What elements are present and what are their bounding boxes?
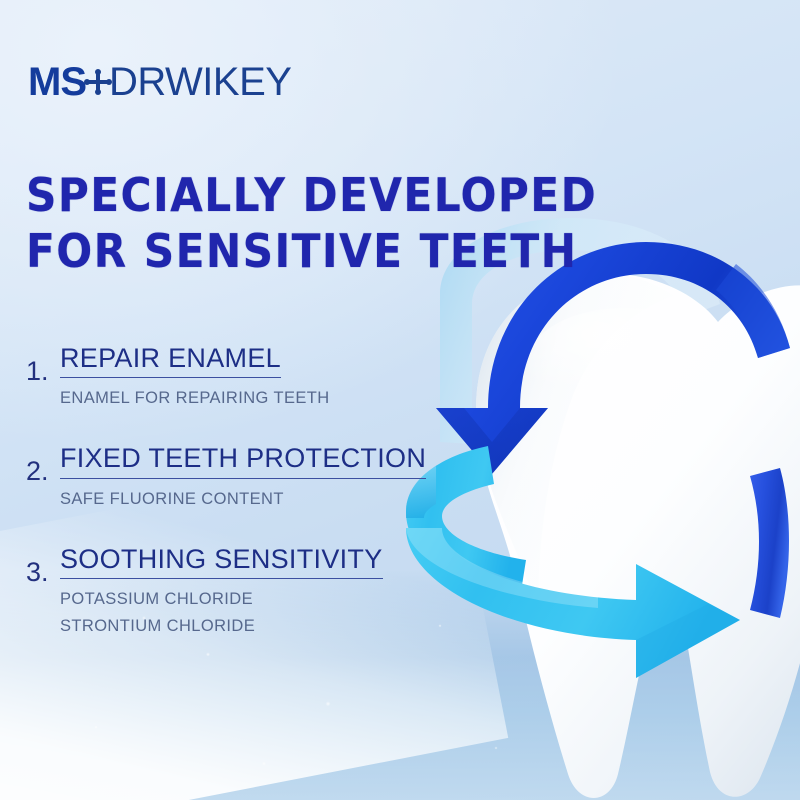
headline: SPECIALLY DEVELOPED FOR SENSITIVE TEETH xyxy=(26,167,523,279)
brand-name-bold: MS xyxy=(28,62,86,102)
feature-number: 1. xyxy=(26,358,49,385)
feature-number: 3. xyxy=(26,559,49,586)
feature-title: REPAIR ENAMEL xyxy=(60,344,281,378)
feature-subtitle: SAFE FLUORINE CONTENT xyxy=(60,486,350,513)
poster-canvas: MS DRWIKEY SPECIALLY DEVELOPED FOR SENSI… xyxy=(0,0,800,800)
feature-item-2: 2. FIXED TEETH PROTECTION SAFE FLUORINE … xyxy=(26,444,386,512)
feature-item-1: 1. REPAIR ENAMEL ENAMEL FOR REPAIRING TE… xyxy=(26,344,386,412)
feature-title: FIXED TEETH PROTECTION xyxy=(60,444,426,478)
tooth-artwork xyxy=(388,212,800,800)
feature-list: 1. REPAIR ENAMEL ENAMEL FOR REPAIRING TE… xyxy=(26,344,386,672)
brand-name-rest: DRWIKEY xyxy=(109,62,291,102)
feature-title: SOOTHING SENSITIVITY xyxy=(60,545,383,579)
feature-subtitle: ENAMEL FOR REPAIRING TEETH xyxy=(60,385,350,412)
feature-subtitle: POTASSIUM CHLORIDE STRONTIUM CHLORIDE xyxy=(60,586,350,640)
brand-logo: MS DRWIKEY xyxy=(28,62,291,102)
headline-line-1: SPECIALLY DEVELOPED xyxy=(26,167,523,223)
headline-line-2: FOR SENSITIVE TEETH xyxy=(26,223,523,279)
feature-number: 2. xyxy=(26,458,49,485)
feature-item-3: 3. SOOTHING SENSITIVITY POTASSIUM CHLORI… xyxy=(26,545,386,641)
